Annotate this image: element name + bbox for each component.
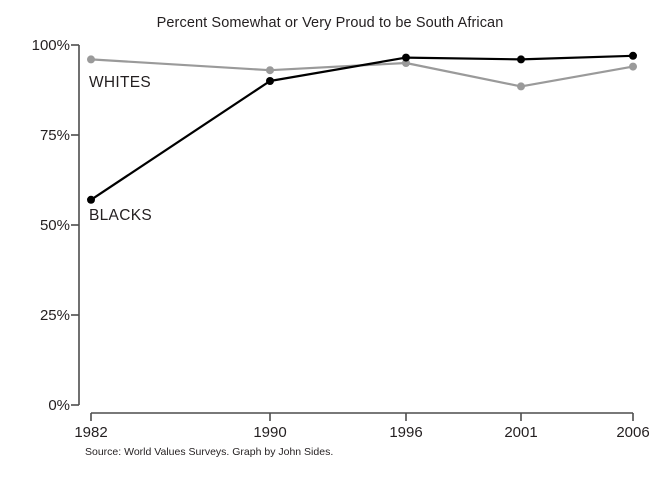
data-point bbox=[87, 55, 95, 63]
series-line-whites bbox=[91, 59, 633, 86]
series-whites bbox=[87, 55, 637, 90]
x-axis bbox=[91, 413, 633, 421]
data-point bbox=[87, 196, 95, 204]
plot-area bbox=[0, 0, 660, 479]
data-point bbox=[517, 55, 525, 63]
data-series-layer bbox=[87, 52, 637, 204]
data-point bbox=[629, 63, 637, 71]
data-point bbox=[517, 82, 525, 90]
series-blacks bbox=[87, 52, 637, 204]
chart-container: Percent Somewhat or Very Proud to be Sou… bbox=[0, 0, 660, 479]
data-point bbox=[629, 52, 637, 60]
data-point bbox=[266, 66, 274, 74]
y-axis bbox=[71, 45, 79, 405]
data-point bbox=[266, 77, 274, 85]
data-point bbox=[402, 54, 410, 62]
series-line-blacks bbox=[91, 56, 633, 200]
